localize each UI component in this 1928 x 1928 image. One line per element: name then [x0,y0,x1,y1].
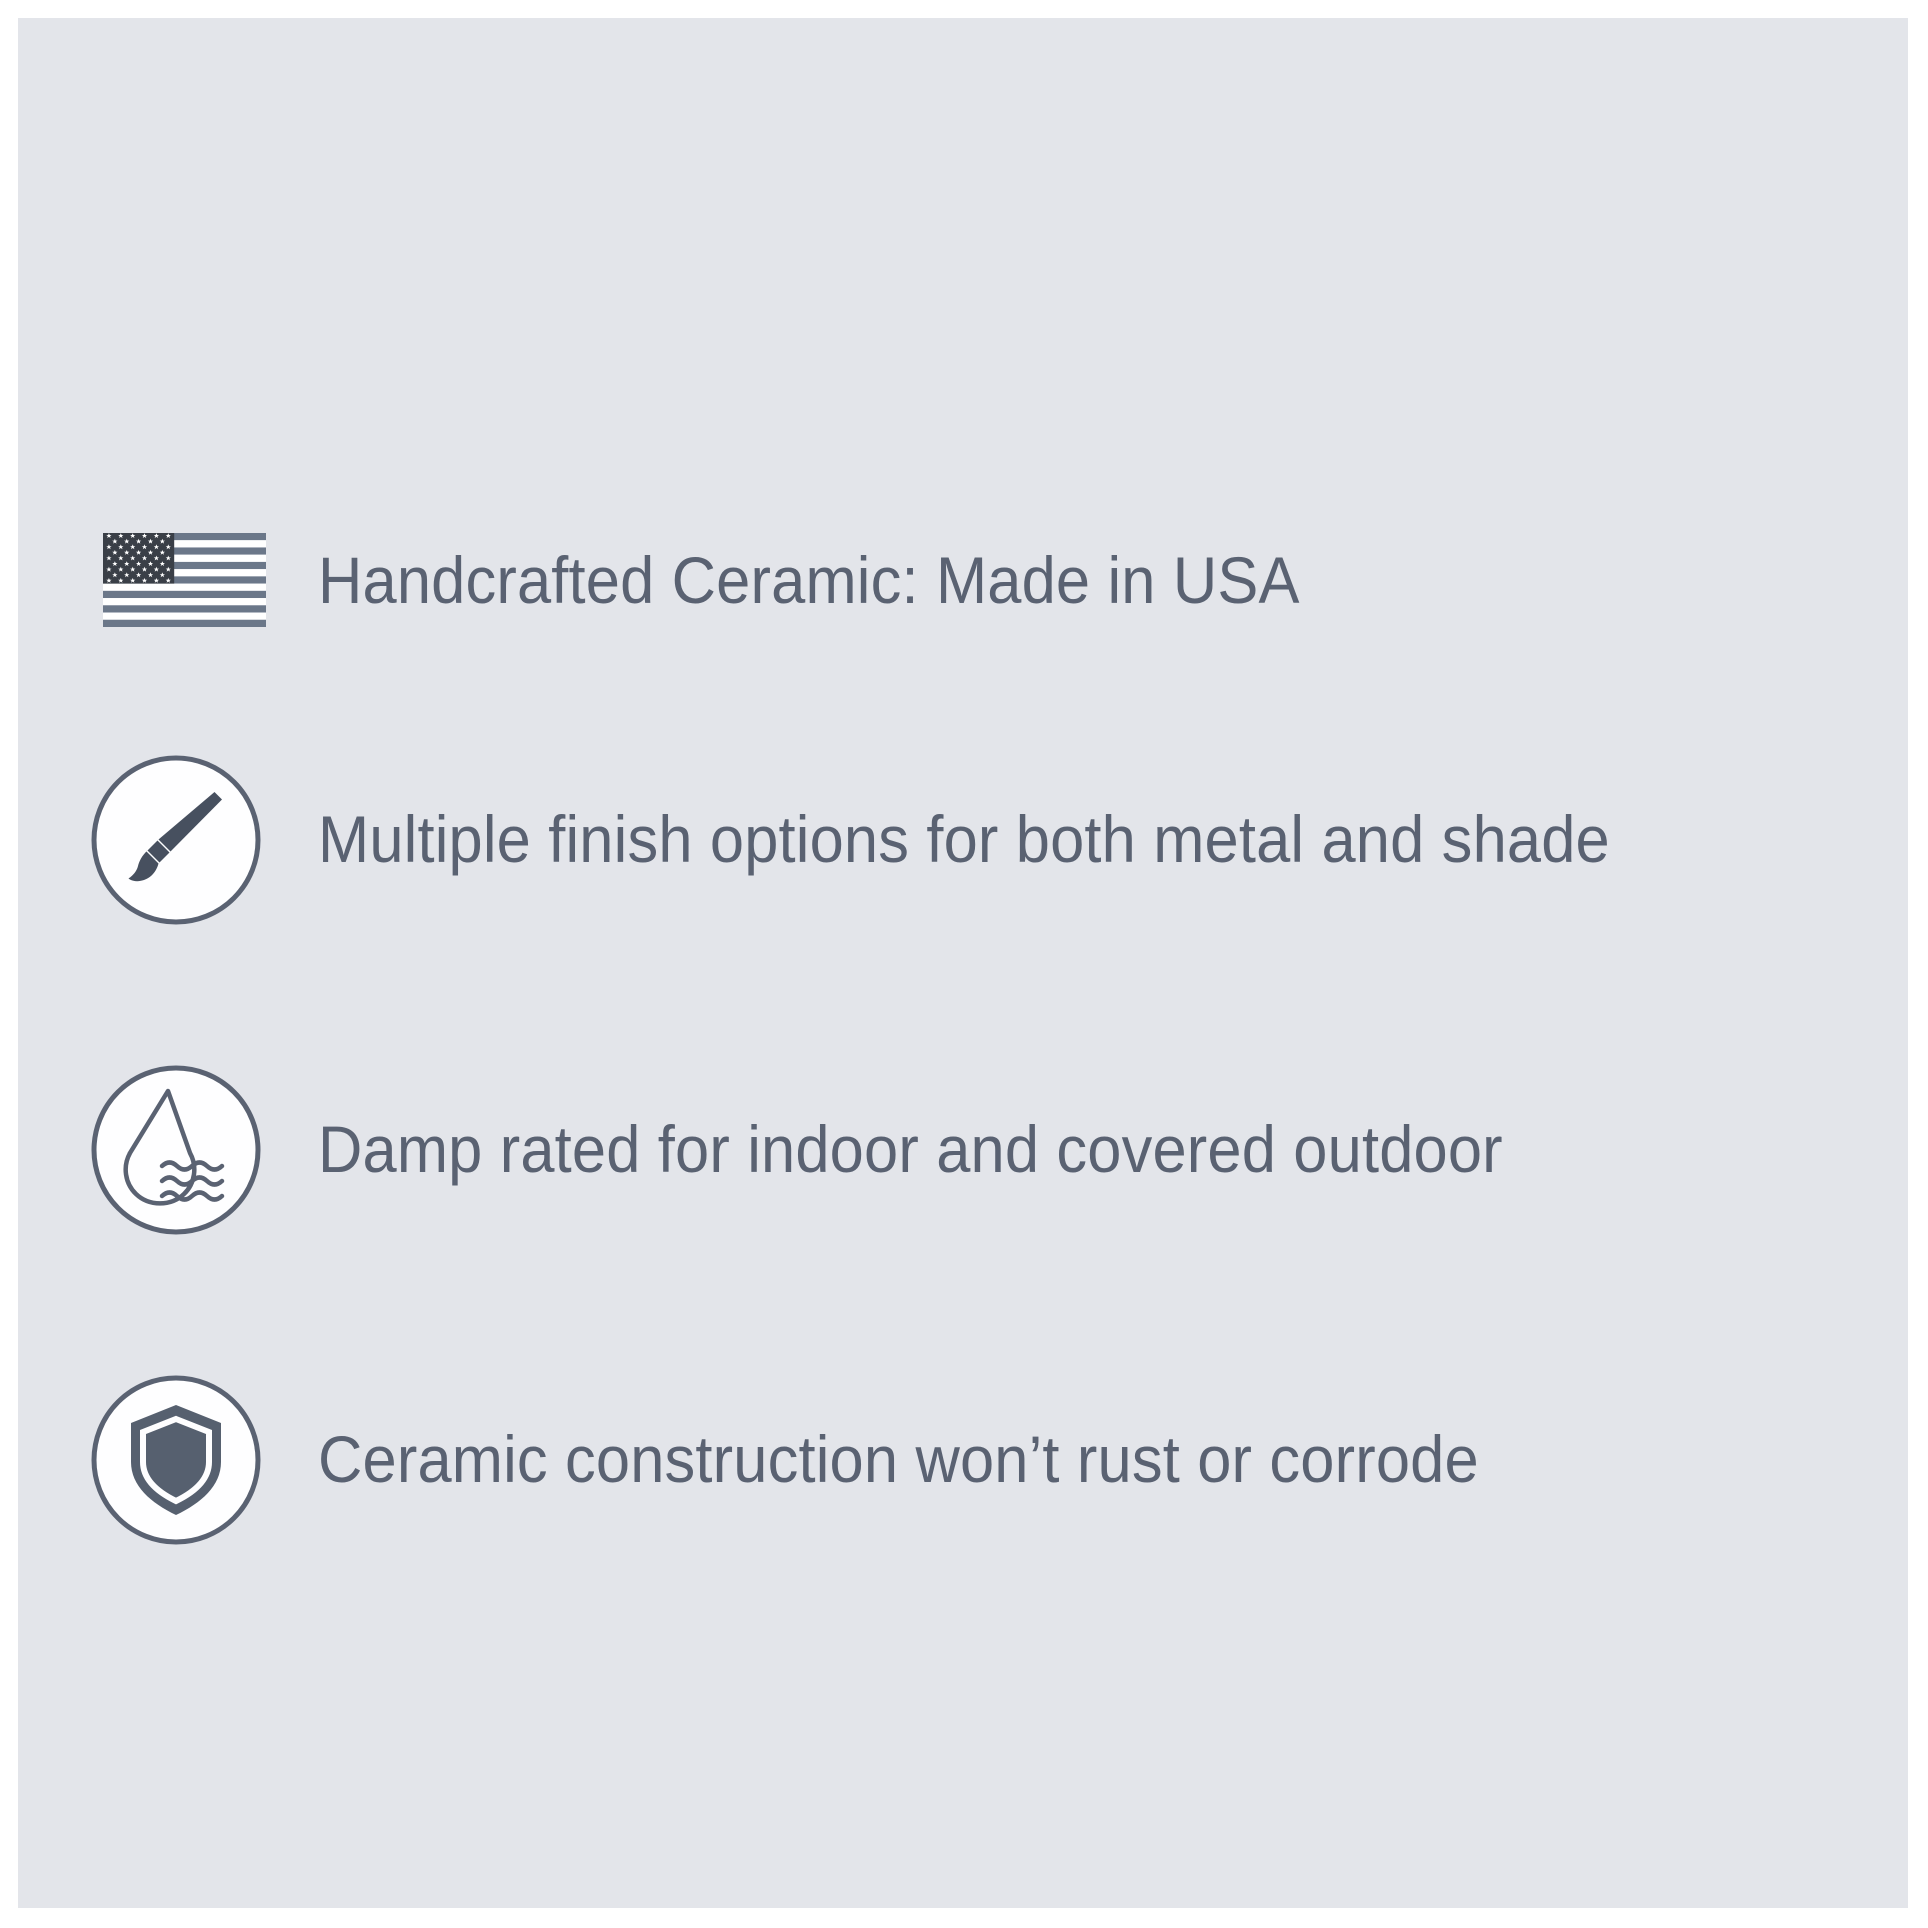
feature-panel: Handcrafted Ceramic: Made in USA Multipl… [18,18,1908,1908]
paintbrush-icon-slot [86,750,266,930]
feature-row: Damp rated for indoor and covered outdoo… [86,1060,1592,1240]
feature-row: Ceramic construction won’t rust or corro… [86,1370,1566,1550]
feature-row: Handcrafted Ceramic: Made in USA [86,491,1374,671]
usa-flag-icon-slot [86,491,266,671]
feature-label: Ceramic construction won’t rust or corro… [318,1425,1479,1494]
water-drop-waves-icon-slot [86,1060,266,1240]
feature-label: Damp rated for indoor and covered outdoo… [318,1115,1503,1184]
water-drop-waves-icon [86,1060,266,1240]
shield-icon [86,1370,266,1550]
usa-flag-icon [86,491,266,671]
paintbrush-icon [86,750,266,930]
feature-row: Multiple finish options for both metal a… [86,750,1707,930]
feature-label: Multiple finish options for both metal a… [318,805,1610,874]
feature-label: Handcrafted Ceramic: Made in USA [318,546,1300,615]
shield-icon-slot [86,1370,266,1550]
